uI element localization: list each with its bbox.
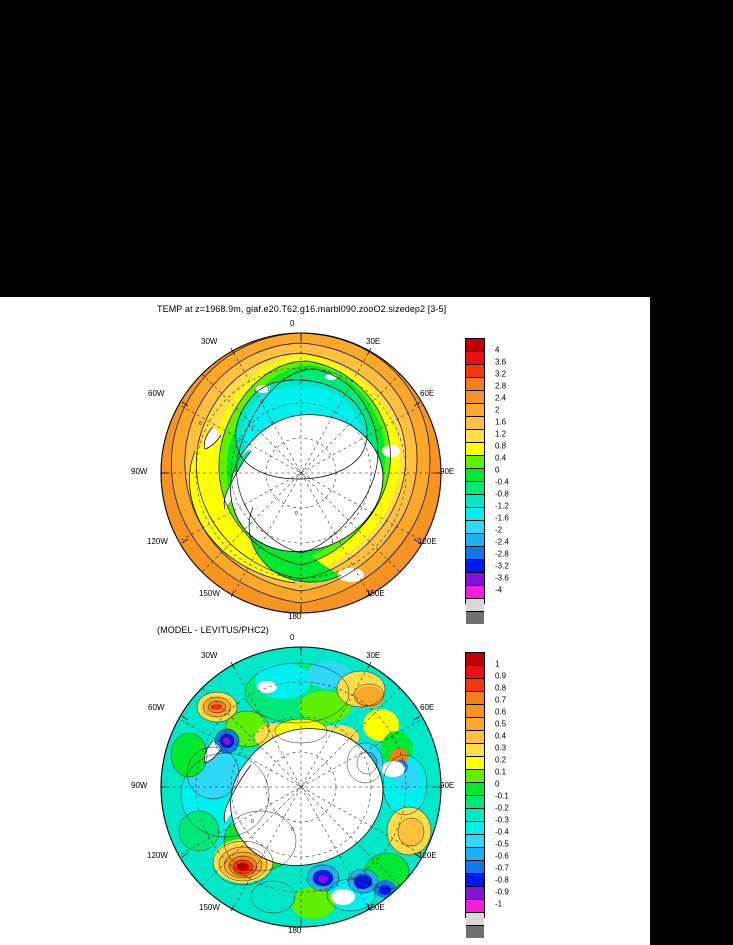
colorbar-tick-label: -0.5: [495, 840, 509, 849]
lon-label-30E-bias: 30E: [366, 651, 380, 660]
colorbar-swatch: [466, 809, 484, 822]
colorbar-swatch: [466, 900, 484, 913]
colorbar-swatch: [466, 495, 484, 508]
svg-text:1: 1: [251, 427, 254, 433]
shelf-patch-4: [325, 374, 337, 380]
colorbar-swatch: [466, 417, 484, 430]
colorbar-tick-label: 0.3: [495, 744, 506, 753]
shelf-patch-2: [382, 445, 400, 457]
colorbar-swatch: [466, 926, 484, 938]
lon-label-90E-bias: 90E: [440, 781, 454, 790]
svg-text:1: 1: [267, 387, 270, 393]
lon-label-60W-bias: 60W: [148, 703, 164, 712]
colorbar-tick-label: 0.8: [495, 442, 506, 451]
lon-label-150W: 150W: [199, 589, 220, 598]
colorbar-strip-bias: [465, 652, 485, 918]
colorbar-tick-label: -0.6: [495, 852, 509, 861]
lon-label-30W: 30W: [201, 337, 217, 346]
colorbar-tick-label: -0.9: [495, 888, 509, 897]
colorbar-labels-model: 43.63.22.82.421.61.20.80.40-0.4-0.8-1.2-…: [491, 338, 531, 602]
shelf-patch-b1: [381, 761, 405, 777]
colorbar-tick-label: 3.2: [495, 370, 506, 379]
colorbar-swatch: [466, 679, 484, 692]
colorbar-tick-label: 2.4: [495, 394, 506, 403]
map-field-bias: 0 0 0: [161, 647, 441, 927]
colorbar-tick-label: -0.7: [495, 864, 509, 873]
colorbar-swatch: [466, 508, 484, 521]
lon-label-90E: 90E: [440, 467, 454, 476]
lon-label-120E-bias: 120E: [418, 851, 437, 860]
panel-title-bias: (MODEL - LEVITUS/PHC2): [157, 625, 269, 635]
shelf-patch-1: [338, 568, 364, 582]
lon-label-150W-bias: 150W: [199, 903, 220, 912]
svg-text:0: 0: [199, 421, 202, 427]
colorbar-swatch: [466, 913, 484, 926]
colorbar-swatch: [466, 692, 484, 705]
colorbar-tick-label: 0.4: [495, 454, 506, 463]
colorbar-swatch: [466, 547, 484, 560]
lon-label-60W: 60W: [148, 389, 164, 398]
lon-label-120W: 120W: [147, 537, 168, 546]
screenshot-root: { "figure": { "background_outer": "#0000…: [0, 0, 733, 945]
colorbar-swatch: [466, 404, 484, 417]
svg-text:0: 0: [291, 827, 294, 833]
colorbar-swatch: [466, 456, 484, 469]
colorbar-tick-label: 2: [495, 406, 499, 415]
svg-text:0: 0: [211, 705, 214, 711]
lon-label-150E-bias: 150E: [366, 903, 385, 912]
map-svg-model: 1 1 1 0 0 0 1: [155, 331, 447, 615]
colorbar-swatch: [466, 848, 484, 861]
panel-model: TEMP at z=1968.9m, giaf.e20.T62.g16.marb…: [0, 297, 650, 617]
panel-title-model: TEMP at z=1968.9m, giaf.e20.T62.g16.marb…: [157, 304, 446, 314]
lon-label-180-bias: 180: [288, 926, 301, 935]
colorbar-swatch: [466, 573, 484, 586]
map-field-model: 1 1 1 0 0 0 1: [161, 333, 441, 613]
lon-label-0: 0: [290, 319, 294, 328]
svg-text:1: 1: [331, 539, 334, 545]
colorbar-model: 43.63.22.82.421.61.20.80.40-0.4-0.8-1.2-…: [465, 338, 485, 604]
colorbar-swatch: [466, 443, 484, 456]
colorbar-tick-label: -0.8: [495, 490, 509, 499]
lon-label-60E: 60E: [420, 389, 434, 398]
colorbar-tick-label: 0.5: [495, 720, 506, 729]
colorbar-swatch: [466, 352, 484, 365]
colorbar-tick-label: 0.2: [495, 756, 506, 765]
colorbar-tick-label: -0.4: [495, 828, 509, 837]
lon-label-30W-bias: 30W: [201, 651, 217, 660]
colorbar-tick-label: -0.1: [495, 792, 509, 801]
colorbar-tick-label: 0.7: [495, 696, 506, 705]
colorbar-swatch: [466, 731, 484, 744]
polar-map-bias: 0 0 0: [155, 645, 447, 929]
colorbar-swatch: [466, 339, 484, 352]
lon-label-90W-bias: 90W: [131, 781, 147, 790]
lon-label-0-bias: 0: [290, 633, 294, 642]
lon-label-120W-bias: 120W: [147, 851, 168, 860]
svg-text:0: 0: [271, 421, 274, 427]
map-svg-bias: 0 0 0: [155, 645, 447, 929]
colorbar-swatch: [466, 586, 484, 599]
colorbar-swatch: [466, 887, 484, 900]
colorbar-strip-model: [465, 338, 485, 604]
colorbar-swatch: [466, 666, 484, 679]
colorbar-tick-label: -2: [495, 526, 502, 535]
colorbar-tick-label: -1.2: [495, 502, 509, 511]
colorbar-swatch: [466, 770, 484, 783]
polar-map-model: 1 1 1 0 0 0 1: [155, 331, 447, 615]
colorbar-swatch: [466, 822, 484, 835]
colorbar-swatch: [466, 599, 484, 612]
colorbar-swatch: [466, 469, 484, 482]
colorbar-tick-label: 1: [495, 660, 499, 669]
shelf-patch-b2: [331, 889, 355, 905]
shelf-patch-b3: [257, 681, 277, 693]
colorbar-swatch: [466, 653, 484, 666]
colorbar-swatch: [466, 560, 484, 573]
colorbar-swatch: [466, 705, 484, 718]
colorbar-tick-label: 1.2: [495, 430, 506, 439]
colorbar-bias: 10.90.80.70.60.50.40.30.20.10-0.1-0.2-0.…: [465, 652, 485, 918]
panel-bias: (MODEL - LEVITUS/PHC2): [0, 617, 650, 945]
colorbar-swatch: [466, 482, 484, 495]
colorbar-swatch: [466, 718, 484, 731]
colorbar-tick-label: 0.9: [495, 672, 506, 681]
svg-text:0: 0: [251, 819, 254, 825]
svg-text:0: 0: [295, 511, 298, 517]
colorbar-swatch: [466, 430, 484, 443]
colorbar-tick-label: 0.1: [495, 768, 506, 777]
colorbar-swatch: [466, 744, 484, 757]
colorbar-tick-label: -0.8: [495, 876, 509, 885]
colorbar-tick-label: 3.6: [495, 358, 506, 367]
colorbar-tick-label: 0.6: [495, 708, 506, 717]
colorbar-tick-label: 4: [495, 346, 499, 355]
colorbar-tick-label: 0: [495, 466, 499, 475]
colorbar-tick-label: -2.4: [495, 538, 509, 547]
colorbar-tick-label: -0.3: [495, 816, 509, 825]
colorbar-tick-label: -3.2: [495, 562, 509, 571]
colorbar-swatch: [466, 365, 484, 378]
svg-text:1: 1: [261, 399, 264, 405]
colorbar-swatch: [466, 378, 484, 391]
colorbar-tick-label: 0: [495, 780, 499, 789]
colorbar-swatch: [466, 783, 484, 796]
colorbar-labels-bias: 10.90.80.70.60.50.40.30.20.10-0.1-0.2-0.…: [491, 652, 531, 916]
colorbar-swatch: [466, 534, 484, 547]
lon-label-60E-bias: 60E: [420, 703, 434, 712]
lon-label-30E: 30E: [366, 337, 380, 346]
colorbar-swatch: [466, 835, 484, 848]
colorbar-tick-label: -0.2: [495, 804, 509, 813]
colorbar-tick-label: -1: [495, 900, 502, 909]
colorbar-swatch: [466, 521, 484, 534]
colorbar-swatch: [466, 861, 484, 874]
colorbar-tick-label: -4: [495, 586, 502, 595]
colorbar-tick-label: -0.4: [495, 478, 509, 487]
colorbar-tick-label: -3.6: [495, 574, 509, 583]
lon-label-120E: 120E: [418, 537, 437, 546]
colorbar-swatch: [466, 391, 484, 404]
colorbar-tick-label: -1.6: [495, 514, 509, 523]
colorbar-tick-label: -2.8: [495, 550, 509, 559]
figure-canvas: TEMP at z=1968.9m, giaf.e20.T62.g16.marb…: [0, 297, 650, 945]
colorbar-tick-label: 1.6: [495, 418, 506, 427]
colorbar-tick-label: 0.8: [495, 684, 506, 693]
lon-label-150E: 150E: [366, 589, 385, 598]
colorbar-tick-label: 0.4: [495, 732, 506, 741]
lon-label-90W: 90W: [131, 467, 147, 476]
colorbar-swatch: [466, 874, 484, 887]
colorbar-swatch: [466, 757, 484, 770]
colorbar-swatch: [466, 796, 484, 809]
colorbar-tick-label: 2.8: [495, 382, 506, 391]
